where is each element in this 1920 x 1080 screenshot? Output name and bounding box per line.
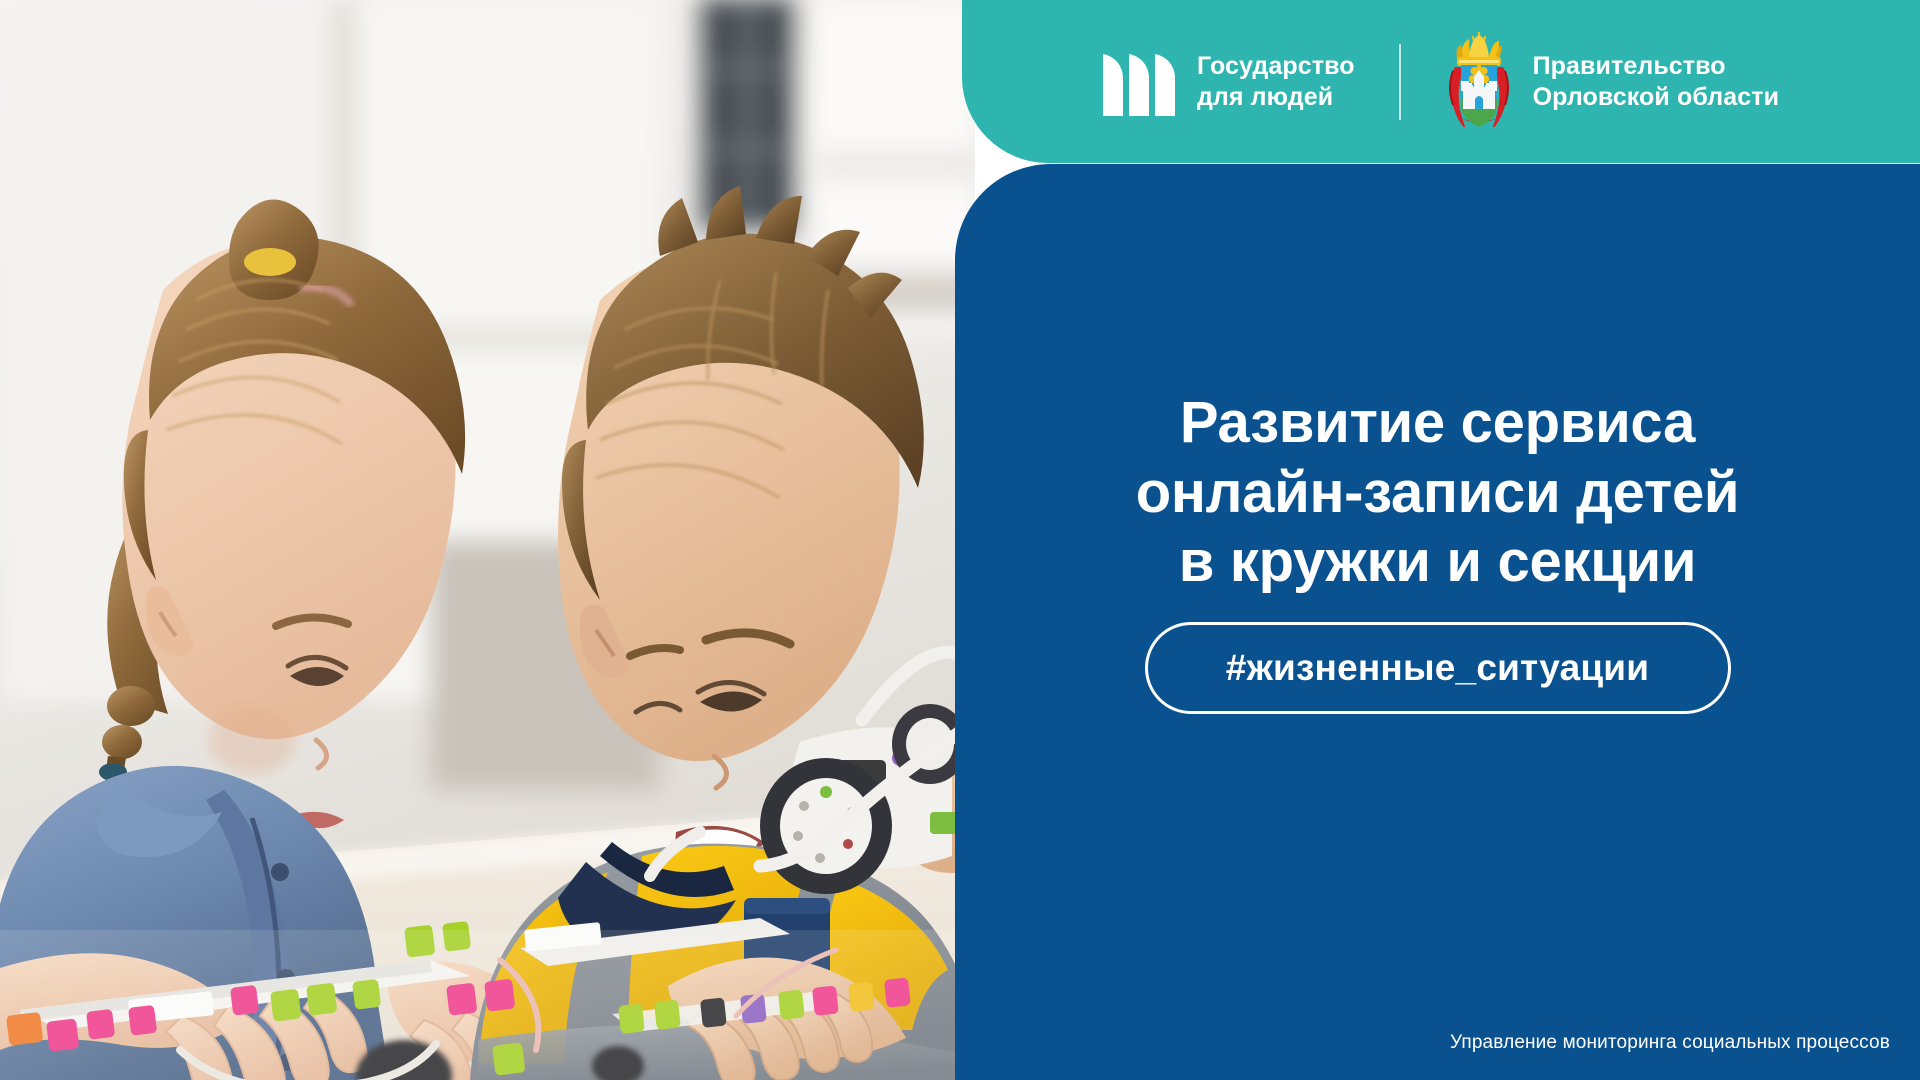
department-credit: Управление мониторинга социальных процес… [1450,1032,1890,1054]
header-logo-divider [1399,44,1401,120]
oryol-oblast-coat-of-arms-icon [1445,31,1513,132]
promo-poster: Государство для людей [0,0,1920,1080]
gosudarstvo-dlya-lyudey-logo-icon [1103,42,1177,121]
children-robotics-photo [0,0,975,1080]
header-logos-row: Государство для людей [962,0,1920,163]
page-title: Развитие сервиса онлайн-записи детей в к… [955,388,1920,597]
main-content: Развитие сервиса онлайн-записи детей в к… [955,164,1920,1080]
gosudarstvo-dlya-lyudey-brand: Государство для людей [1103,42,1355,121]
brand-label: Государство для людей [1197,51,1355,112]
emblem-label: Правительство Орловской области [1533,51,1779,112]
hashtag-button[interactable]: #жизненные_ситуации [1145,622,1731,714]
hashtag-label: #жизненные_ситуации [1182,647,1693,689]
oryol-government-brand: Правительство Орловской области [1445,31,1779,132]
